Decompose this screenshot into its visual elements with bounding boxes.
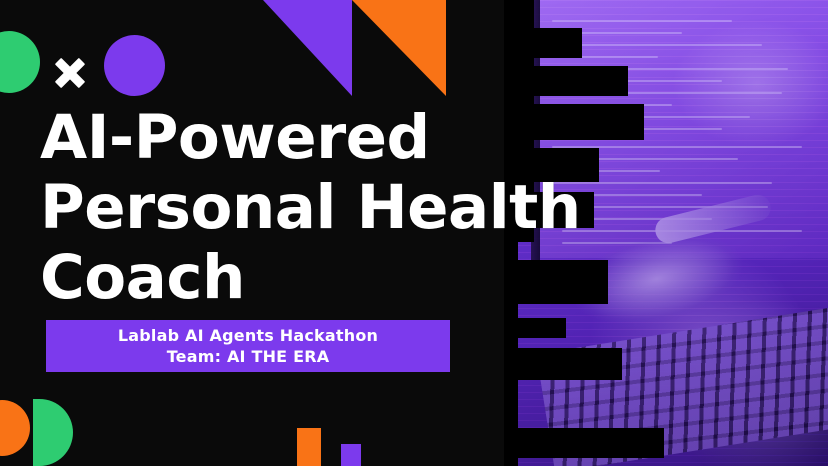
- stair-bar: [504, 428, 664, 458]
- title-line-2: Personal Health: [40, 173, 581, 243]
- stair-bar: [504, 338, 518, 348]
- orange-triangle-icon: [352, 0, 446, 96]
- stair-bar: [504, 380, 518, 428]
- subtitle-line-1: Lablab AI Agents Hackathon: [118, 325, 378, 346]
- subtitle-line-2: Team: AI THE ERA: [167, 346, 330, 367]
- x-mark-icon: [50, 53, 90, 93]
- title-line-3: Coach: [40, 243, 581, 313]
- stair-bar: [504, 28, 582, 58]
- purple-circle-icon: [104, 35, 165, 96]
- stair-bar: [504, 0, 534, 28]
- green-semicircle-icon: [33, 399, 73, 466]
- orange-circle-icon: [0, 400, 30, 456]
- subtitle-banner: Lablab AI Agents Hackathon Team: AI THE …: [46, 320, 450, 372]
- orange-bar-icon: [297, 428, 321, 466]
- presentation-title-banner: AI-Powered Personal Health Coach Lablab …: [0, 0, 828, 466]
- stair-bar: [504, 66, 628, 96]
- purple-bar-icon: [341, 444, 361, 466]
- purple-triangle-icon: [263, 0, 352, 96]
- stair-bar: [504, 348, 622, 380]
- green-circle-icon: [0, 31, 40, 93]
- stair-bar: [504, 58, 534, 66]
- stair-bar: [504, 318, 566, 338]
- title-line-1: AI-Powered: [40, 103, 581, 173]
- page-title: AI-Powered Personal Health Coach: [40, 103, 581, 313]
- stair-bar: [504, 458, 518, 466]
